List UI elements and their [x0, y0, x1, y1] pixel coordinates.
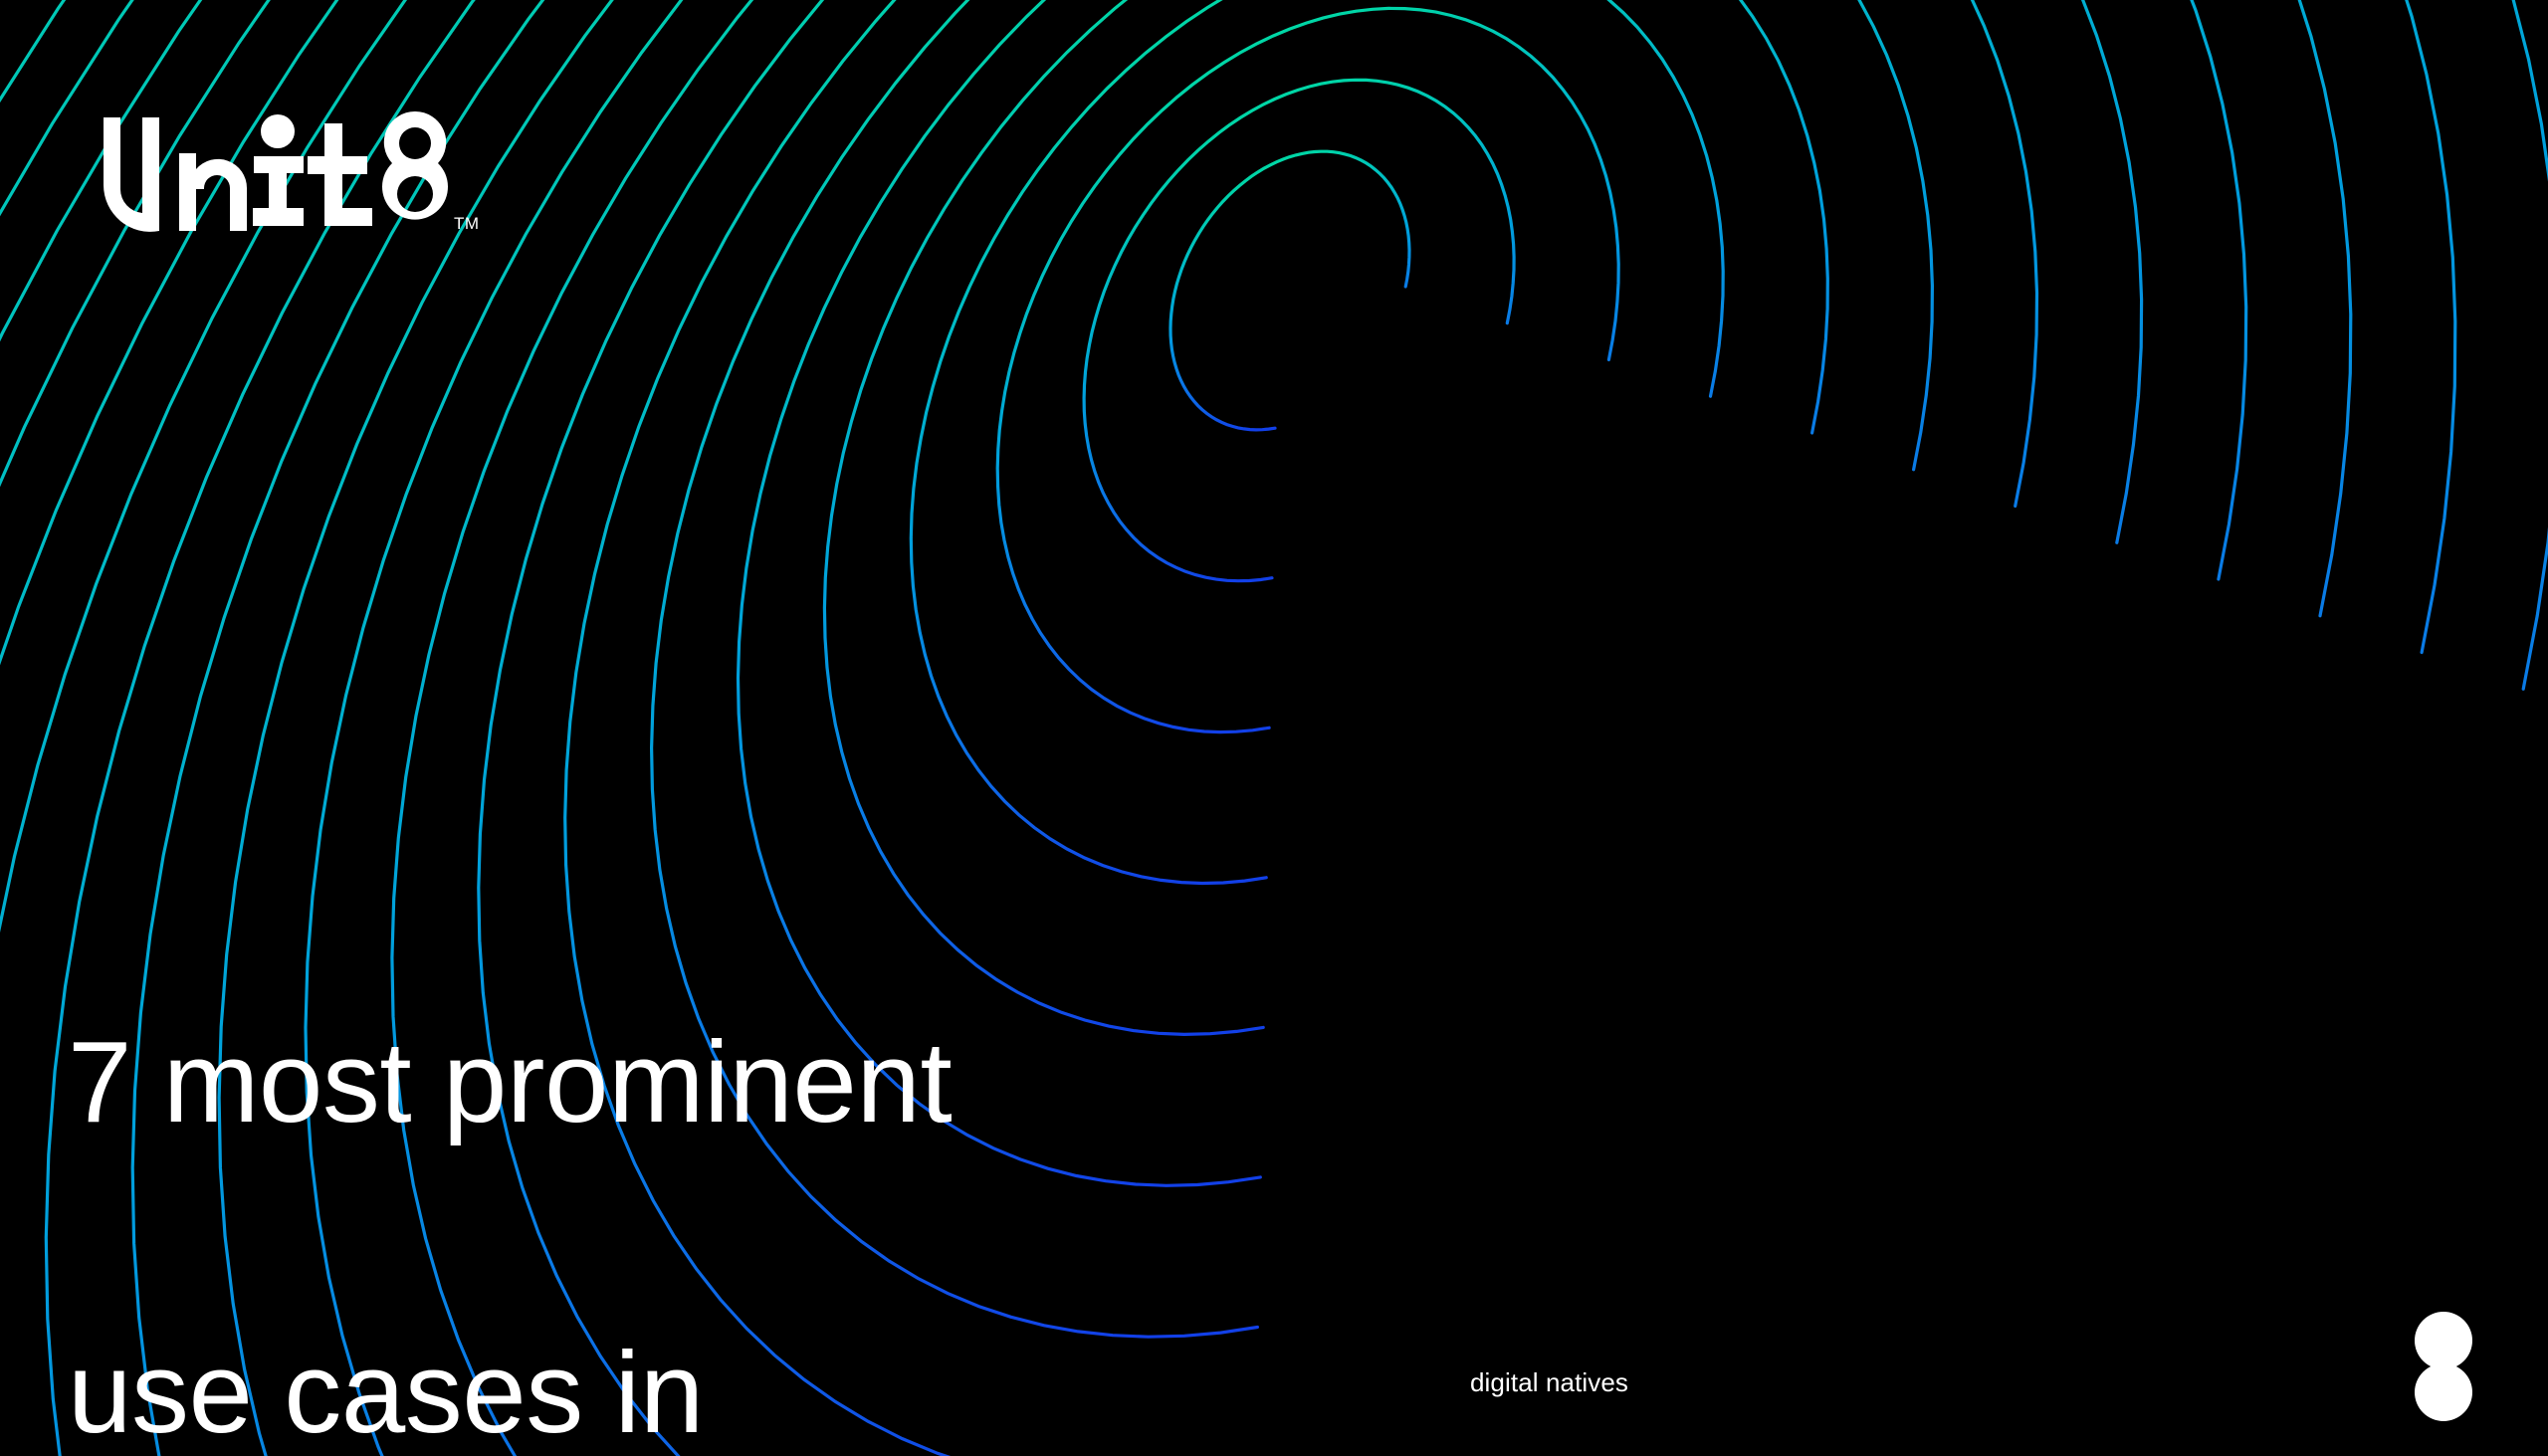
unit8-logo[interactable]: TM [104, 111, 502, 237]
brand-mark-dot-top [2415, 1312, 2472, 1369]
trademark-symbol: TM [454, 214, 480, 233]
headline-line-1: 7 most prominent [68, 1004, 1302, 1159]
arc-line [1084, 80, 1514, 580]
unit8-wordmark-glyphs [104, 111, 448, 232]
arc-line [1170, 151, 1409, 430]
brand-mark-dot-bottom [2415, 1363, 2472, 1421]
arc-line [911, 0, 1723, 884]
footer-caption: digital natives [1470, 1367, 1628, 1397]
arc-line [997, 8, 1618, 731]
page-title: 7 most prominent use cases in Talent Ana… [68, 849, 1302, 1456]
unit8-dot-mark [2415, 1312, 2480, 1421]
headline-line-2: use cases in [68, 1315, 1302, 1456]
slide-canvas: TM 7 most prominent use cases in Talent … [0, 0, 2548, 1456]
